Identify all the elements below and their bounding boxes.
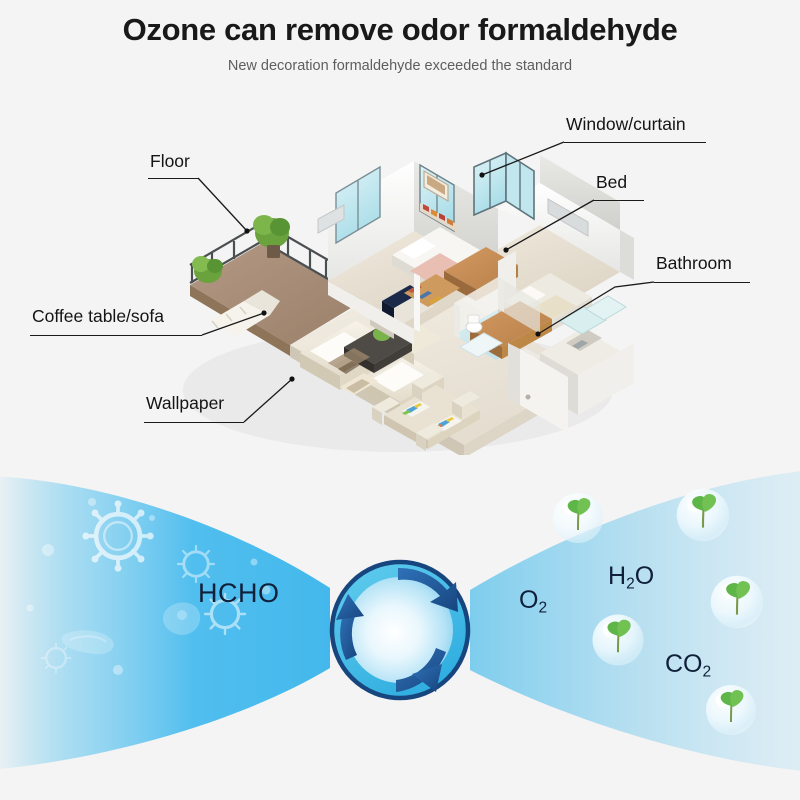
formula-h2o-sub: 2: [626, 575, 635, 592]
infographic-page: Ozone can remove odor formaldehyde New d…: [0, 0, 800, 800]
ozone-band-graphic: [0, 440, 800, 800]
header: Ozone can remove odor formaldehyde New d…: [0, 0, 800, 95]
formula-h2o-tail: O: [635, 562, 654, 590]
formula-o2: O2: [519, 586, 547, 617]
formula-o2-sub: 2: [538, 599, 547, 616]
leaf-bubble: [677, 489, 730, 542]
leaf-bubble: [553, 493, 603, 543]
formula-co2-symbol: CO: [665, 650, 703, 678]
formula-h2o: H2O: [608, 562, 654, 593]
formula-hcho: HCHO: [198, 578, 280, 609]
leaf-bubble: [711, 576, 764, 629]
callout-leader-line: [400, 95, 760, 395]
formula-h2o-symbol: H: [608, 562, 626, 590]
ozone-reaction-band: OZONE: [0, 440, 800, 800]
page-title: Ozone can remove odor formaldehyde: [0, 12, 800, 48]
formula-o2-symbol: O: [519, 586, 538, 614]
leaf-bubble: [593, 615, 644, 666]
leaf-bubble: [706, 685, 756, 735]
formula-co2: CO2: [665, 650, 711, 681]
page-subtitle: New decoration formaldehyde exceeded the…: [0, 58, 800, 74]
ozone-cycle-graphic: [332, 562, 468, 698]
callout-leader-line: [0, 95, 340, 455]
house-diagram: Floor Coffee table/sofa Wallpaper: [0, 95, 800, 465]
formula-co2-sub: 2: [703, 663, 712, 680]
